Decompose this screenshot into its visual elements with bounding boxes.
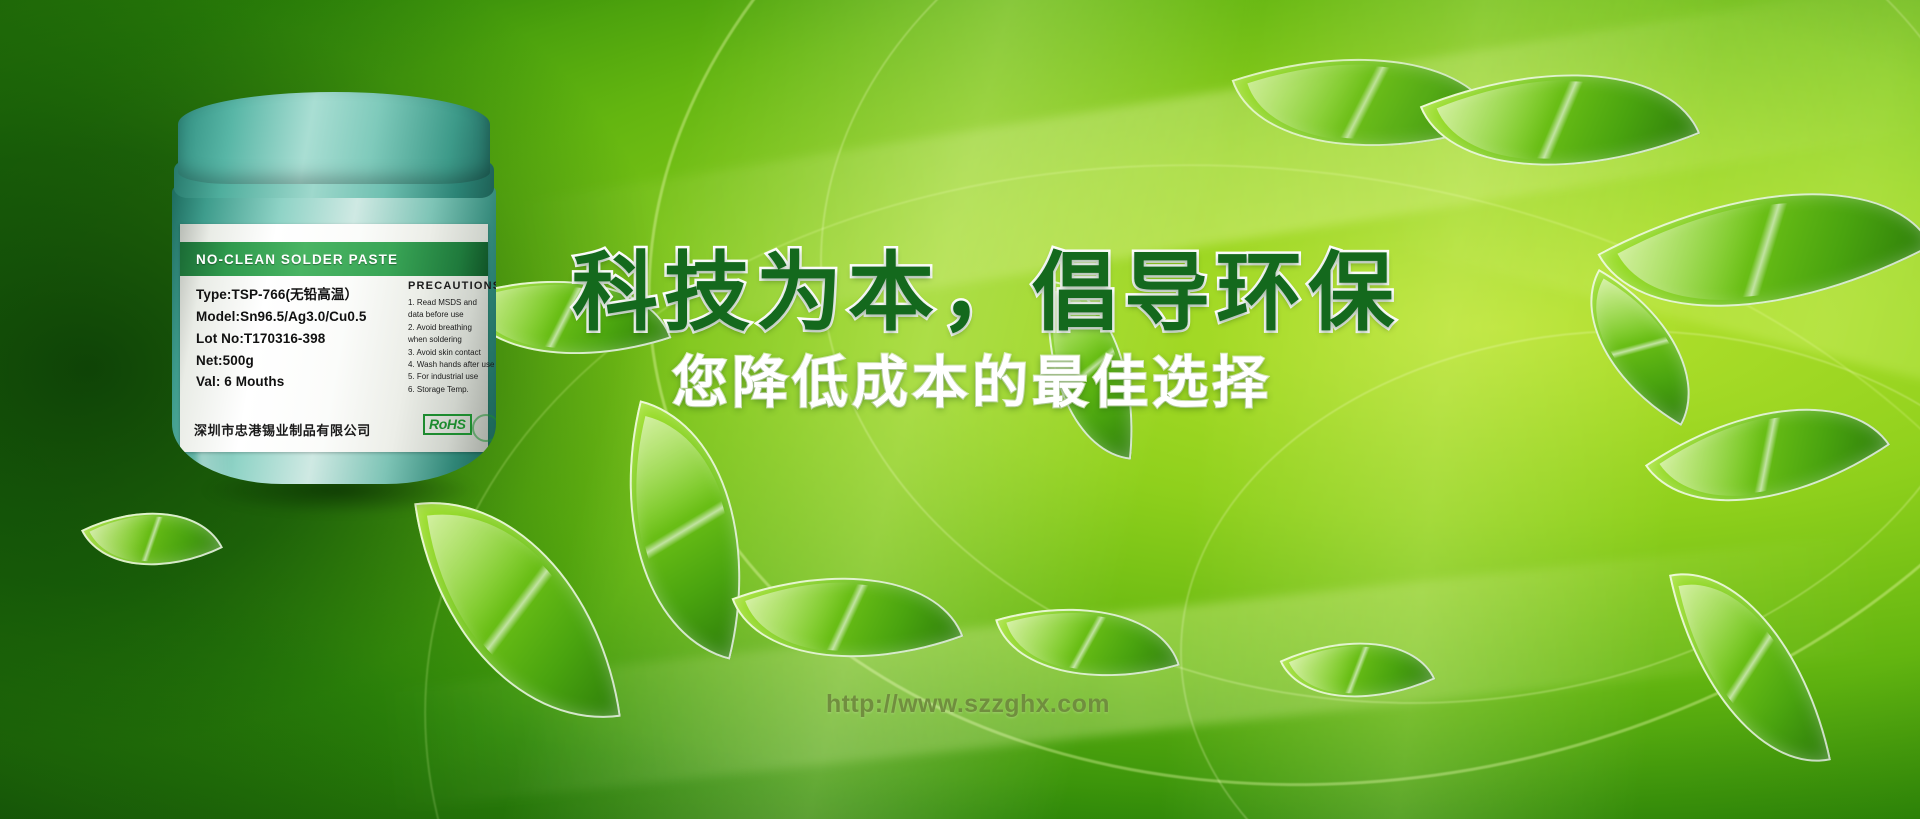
precautions-item: 6. Storage Temp.: [408, 384, 496, 396]
label-title-band: NO-CLEAN SOLDER PASTE: [180, 242, 488, 276]
jar-body: NO-CLEAN SOLDER PASTE Type:TSP-766(无铅高温）…: [172, 184, 496, 484]
precautions-title: PRECAUTIONS: [408, 280, 496, 292]
precautions-item: 4. Wash hands after use: [408, 359, 496, 371]
precautions-item: 5. For industrial use: [408, 371, 496, 383]
label-company-name: 深圳市忠港锡业制品有限公司: [194, 420, 424, 439]
label-spec-lot: Lot No:T170316-398: [196, 328, 406, 350]
label-spec-type: Type:TSP-766(无铅高温）: [196, 284, 406, 306]
precautions-item: 3. Avoid skin contact: [408, 347, 496, 359]
label-precautions: PRECAUTIONS 1. Read MSDS and data before…: [408, 280, 496, 430]
page-title: 科技为本，倡导环保: [572, 222, 1400, 347]
label-spec-validity: Val: 6 Mouths: [196, 371, 406, 393]
rohs-circle-icon: [472, 414, 496, 442]
precautions-item: when soldering: [408, 334, 496, 346]
precautions-item: data before use: [408, 309, 496, 321]
product-jar-image: NO-CLEAN SOLDER PASTE Type:TSP-766(无铅高温）…: [168, 92, 500, 494]
label-title-text: NO-CLEAN SOLDER PASTE: [180, 252, 398, 267]
product-label: NO-CLEAN SOLDER PASTE Type:TSP-766(无铅高温）…: [180, 224, 488, 452]
website-url[interactable]: http://www.szzghx.com: [826, 690, 1110, 719]
jar-lid: [178, 92, 490, 184]
label-spec-net: Net:500g: [196, 350, 406, 372]
precautions-item: 1. Read MSDS and: [408, 297, 496, 309]
label-spec-model: Model:Sn96.5/Ag3.0/Cu0.5: [196, 306, 406, 328]
precautions-item: 2. Avoid breathing: [408, 322, 496, 334]
label-spec-list: Type:TSP-766(无铅高温） Model:Sn96.5/Ag3.0/Cu…: [196, 284, 406, 393]
precautions-list: 1. Read MSDS and data before use 2. Avoi…: [408, 297, 496, 396]
rohs-badge: RoHS: [423, 414, 472, 435]
page-subtitle: 您降低成本的最佳选择: [672, 338, 1272, 419]
promo-banner: NO-CLEAN SOLDER PASTE Type:TSP-766(无铅高温）…: [0, 0, 1920, 819]
